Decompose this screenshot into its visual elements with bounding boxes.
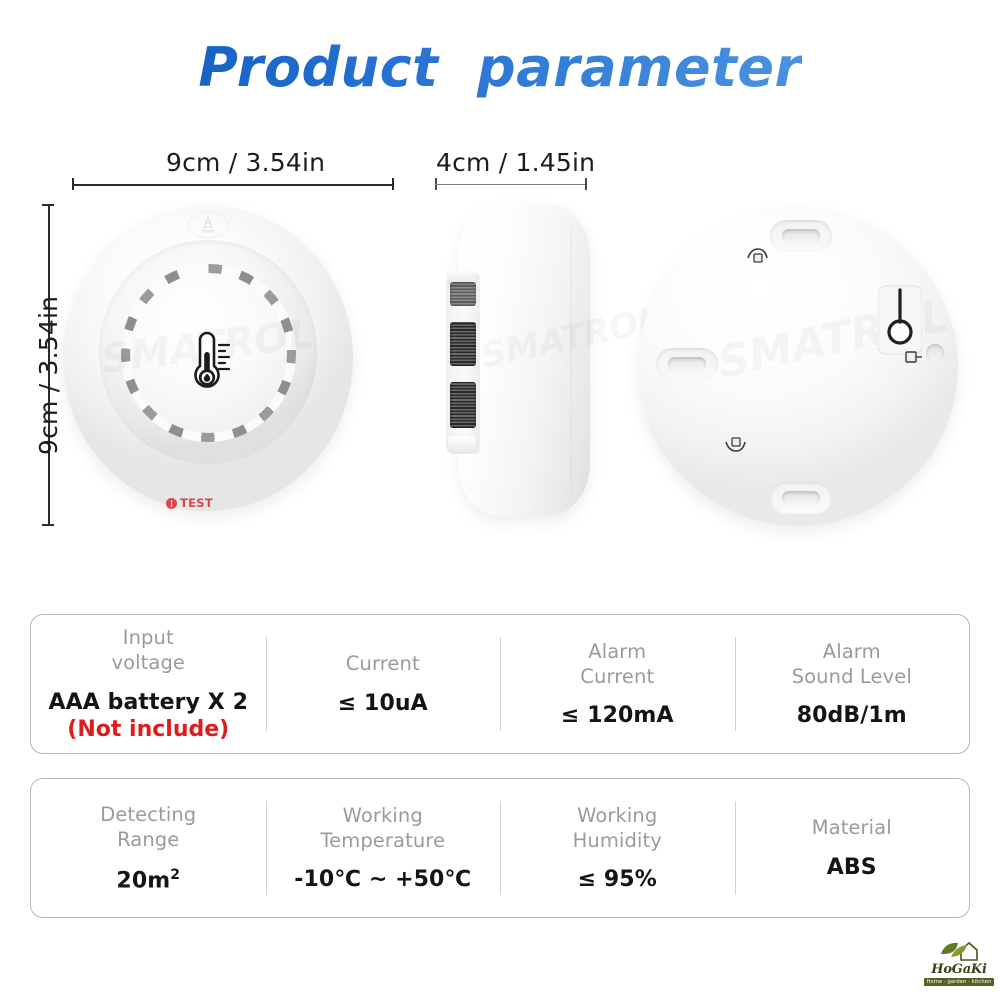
spec-label: Working Temperature [320, 804, 445, 854]
spec-label: Material [812, 816, 892, 841]
dimension-cap-bottom [42, 524, 54, 526]
spec-value-text: 20m [116, 868, 170, 893]
page-title-container: Product parameter [0, 36, 1000, 99]
dimension-label-width: 9cm / 3.54in [166, 148, 325, 177]
spec-value: -10℃ ~ +50℃ [294, 867, 471, 892]
spec-table-row-2: Detecting Range 20m2 Working Temperature… [30, 778, 970, 918]
mount-slot-hole [668, 357, 706, 371]
dimension-cap-right [392, 178, 394, 190]
thermometer-icon [183, 330, 237, 392]
brand-logo: HoGaKi Home · garden · kitchen [928, 940, 990, 992]
spec-cell-detecting-range: Detecting Range 20m2 [31, 779, 266, 917]
side-seam-line [571, 226, 573, 496]
side-vent-slot [450, 322, 476, 366]
brand-tagline: Home · garden · kitchen [924, 978, 995, 986]
spec-cell-working-temperature: Working Temperature -10℃ ~ +50℃ [266, 779, 501, 917]
back-clip-icon [900, 348, 924, 366]
dimension-line-depth [435, 178, 587, 190]
product-back-view: SMATROL [638, 196, 958, 526]
dimension-bar [435, 184, 587, 185]
back-mount-slot-bottom [770, 482, 832, 514]
sound-wave-icon [187, 208, 229, 242]
back-clip-icon [724, 436, 748, 454]
spec-cell-alarm-current: Alarm Current ≤ 120mA [500, 615, 735, 753]
mount-slot-hole [782, 229, 820, 243]
back-screw-hole [926, 344, 944, 362]
side-vent-slot [450, 282, 476, 306]
mount-slot-hole [782, 491, 820, 505]
spec-cell-material: Material ABS [735, 779, 970, 917]
spec-cell-current: Current ≤ 10uA [266, 615, 501, 753]
page-title: Product parameter [198, 36, 801, 99]
dimension-label-depth: 4cm / 1.45in [436, 148, 595, 177]
dimension-bar [72, 184, 394, 186]
back-mount-slot-left [656, 348, 718, 380]
dimension-line-width [72, 178, 394, 190]
side-clip-tab [448, 436, 476, 452]
spec-label: Alarm Sound Level [792, 640, 912, 690]
spec-table-row-1: Input voltage AAA battery X 2 (Not inclu… [30, 614, 970, 754]
spec-value: ABS [827, 855, 877, 880]
product-front-view: SMATROL TEST [63, 196, 353, 526]
spec-cell-input-voltage: Input voltage AAA battery X 2 (Not inclu… [31, 615, 266, 753]
back-mount-slot-top [770, 220, 832, 252]
spec-note: (Not include) [67, 717, 229, 742]
dimension-cap-right [585, 178, 587, 190]
spec-label: Working Humidity [573, 804, 662, 854]
spec-value: 20m2 [116, 867, 180, 893]
spec-value: ≤ 95% [578, 867, 657, 892]
spec-cell-working-humidity: Working Humidity ≤ 95% [500, 779, 735, 917]
spec-label: Alarm Current [580, 640, 654, 690]
spec-cell-alarm-sound-level: Alarm Sound Level 80dB/1m [735, 615, 970, 753]
spec-value-superscript: 2 [170, 867, 180, 883]
spec-label: Current [346, 652, 420, 677]
test-button-label: TEST [180, 496, 213, 510]
back-clip-icon [746, 246, 770, 264]
dimension-label-height: 9cm / 3.54in [34, 296, 63, 455]
spec-value: ≤ 10uA [338, 691, 428, 716]
spec-value: ≤ 120mA [561, 703, 674, 728]
spec-label: Input voltage [111, 626, 185, 676]
side-vent-slot [450, 382, 476, 428]
test-button[interactable]: TEST [166, 496, 213, 510]
spec-value: 80dB/1m [797, 703, 907, 728]
house-leaf-icon [939, 940, 979, 962]
product-side-view: SMATROL [440, 196, 590, 526]
test-indicator-icon [166, 498, 177, 509]
spec-value: AAA battery X 2 [48, 690, 248, 715]
brand-name: HoGaKi [931, 963, 987, 976]
spec-label: Detecting Range [100, 803, 196, 853]
product-parameter-page: Product parameter 9cm / 3.54in 4cm / 1.4… [0, 0, 1000, 1000]
